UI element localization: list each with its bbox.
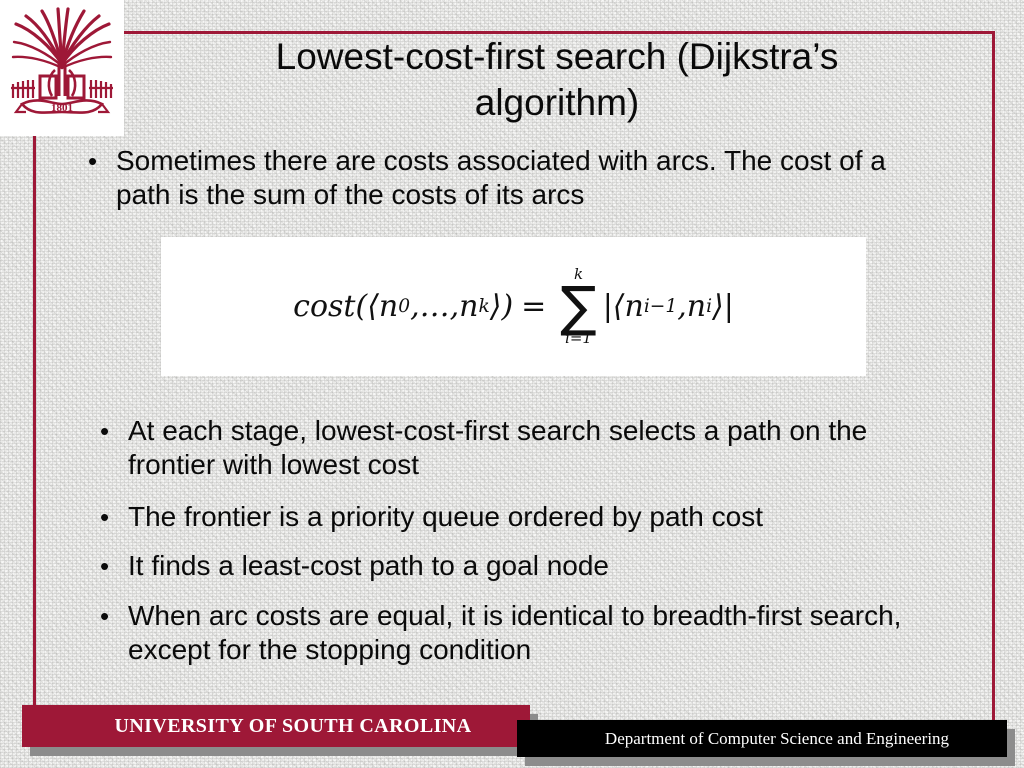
bullet-text-5: When arc costs are equal, it is identica… bbox=[128, 599, 960, 667]
university-banner-text: UNIVERSITY OF SOUTH CAROLINA bbox=[22, 715, 530, 738]
formula-rhs-open: |⟨n bbox=[603, 289, 644, 324]
slide-title: Lowest-cost-first search (Dijkstra’s alg… bbox=[124, 34, 990, 126]
department-banner: Department of Computer Science and Engin… bbox=[517, 720, 1007, 757]
formula-lhs-sub-0: 0 bbox=[398, 296, 410, 317]
formula-rhs-mid: ,n bbox=[677, 289, 706, 324]
slide-title-line-2: algorithm) bbox=[124, 80, 990, 126]
bullet-marker-icon: • bbox=[100, 500, 128, 534]
university-banner: UNIVERSITY OF SOUTH CAROLINA bbox=[22, 705, 530, 747]
bullet-marker-icon: • bbox=[100, 414, 128, 448]
logo-year-text: 1801 bbox=[51, 102, 73, 114]
formula-equals: = bbox=[521, 289, 546, 324]
sigma-icon: ∑ bbox=[560, 282, 596, 332]
bullet-item-2: • At each stage, lowest-cost-first searc… bbox=[100, 414, 960, 482]
bullet-text-4: It finds a least-cost path to a goal nod… bbox=[128, 549, 960, 583]
bullet-marker-icon: • bbox=[88, 144, 116, 178]
frame-right-rule bbox=[992, 31, 995, 723]
bullet-text-3: The frontier is a priority queue ordered… bbox=[128, 500, 960, 534]
formula-image-box: cost(⟨n0,…,nk⟩) = k ∑ i=1 |⟨ni−1,ni⟩| bbox=[161, 237, 866, 376]
formula-summation: k ∑ i=1 bbox=[560, 267, 596, 347]
formula-rhs-sub-1: i−1 bbox=[644, 296, 677, 317]
bullet-marker-icon: • bbox=[100, 549, 128, 583]
formula-rhs-close: ⟩| bbox=[712, 289, 734, 324]
formula-lhs-close: ⟩) bbox=[490, 289, 513, 324]
bullet-item-1: • Sometimes there are costs associated w… bbox=[88, 144, 948, 212]
bullet-item-5: • When arc costs are equal, it is identi… bbox=[100, 599, 960, 667]
department-banner-text: Department of Computer Science and Engin… bbox=[517, 729, 1007, 749]
bullet-item-3: • The frontier is a priority queue order… bbox=[100, 500, 960, 534]
formula-lhs: cost(⟨n bbox=[293, 289, 398, 324]
bullet-text-1: Sometimes there are costs associated wit… bbox=[116, 144, 948, 212]
usc-logo: 1801 bbox=[0, 0, 124, 136]
bullet-marker-icon: • bbox=[100, 599, 128, 633]
bullet-item-4: • It finds a least-cost path to a goal n… bbox=[100, 549, 960, 583]
formula-lhs-sub-k: k bbox=[478, 296, 489, 317]
slide-title-line-1: Lowest-cost-first search (Dijkstra’s bbox=[124, 34, 990, 80]
cost-formula: cost(⟨n0,…,nk⟩) = k ∑ i=1 |⟨ni−1,ni⟩| bbox=[293, 267, 734, 347]
slide-canvas: 1801 Lowest-cost-first search (Dijkstra’… bbox=[0, 0, 1024, 768]
formula-lhs-mid: ,…,n bbox=[410, 289, 478, 324]
bullet-text-2: At each stage, lowest-cost-first search … bbox=[128, 414, 960, 482]
formula-sum-lower: i=1 bbox=[565, 331, 592, 346]
